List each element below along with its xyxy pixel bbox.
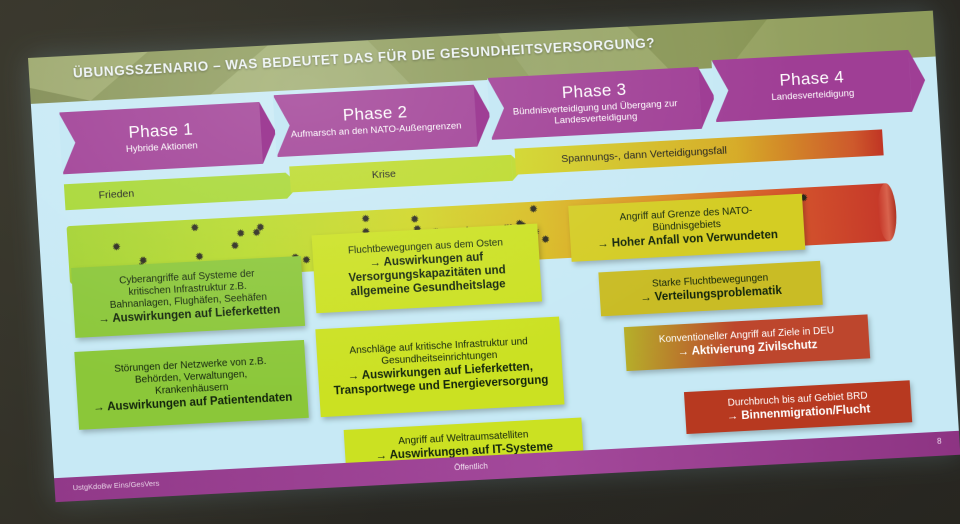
phase-title: Phase 4 [779,69,845,90]
virus-icon: ✹ [302,256,312,265]
chevron-notch-icon [711,59,730,122]
phase-subtitle: Hybride Aktionen [120,140,204,156]
phase-3[interactable]: Phase 3 Bündnisverteidigung und Übergang… [488,67,702,140]
phase-title: Phase 2 [342,104,408,125]
chevron-right-icon [908,49,927,112]
chevron-notch-icon [58,112,77,175]
virus-icon: ✹ [529,206,539,215]
callout-konventioneller-angriff[interactable]: Konventioneller Angriff auf Ziele in DEU… [624,314,870,371]
status-band-krise: Krise [289,155,512,193]
virus-icon: ✹ [541,236,551,245]
chevron-notch-icon [487,77,506,140]
footer-org-label: UstgKdoBw Eins/GesVers [72,479,159,493]
virus-icon: ✹ [361,216,371,225]
status-band-label: Frieden [64,188,134,204]
callout-angriff-nato-grenze[interactable]: Angriff auf Grenze des NATO- Bündnisgebi… [568,194,805,262]
chevron-notch-icon [273,94,292,157]
status-band-label: Krise [290,168,397,186]
virus-icon: ✹ [112,243,122,252]
phase-subtitle: Landesverteidigung [765,88,861,104]
projected-slide: ÜBUNGSSZENARIO – WAS BEDEUTET DAS FÜR DI… [28,11,960,503]
virus-icon: ✹ [252,229,262,238]
phase-title: Phase 3 [561,81,627,102]
phase-2[interactable]: Phase 2 Aufmarsch an den NATO-Außengrenz… [274,85,478,157]
callout-anschlaege-infrastruktur[interactable]: Anschläge auf kritische Infrastruktur un… [315,317,564,418]
callout-starke-fluchtbewegungen[interactable]: Starke Fluchtbewegungen → Verteilungspro… [598,261,822,317]
phase-1[interactable]: Phase 1 Hybride Aktionen [59,102,263,174]
classification-label: Öffentlich [454,461,488,472]
arrow-cap [876,183,898,242]
callout-stoerungen-netzwerke[interactable]: Störungen der Netzwerke von z.B. Behörde… [74,340,309,430]
callout-highlight: → Auswirkungen auf Lieferketten, Transpo… [326,359,555,399]
phase-subtitle: Aufmarsch an den NATO-Außengrenzen [285,120,468,141]
virus-icon: ✹ [190,225,200,234]
status-band-spannungsfall: Spannungs-, dann Verteidigungsfall [515,129,884,174]
status-band-label: Spannungs-, dann Verteidigungsfall [515,145,727,168]
phase-subtitle: Bündnisverteidigung und Übergang zur Lan… [490,97,701,130]
phase-title: Phase 1 [128,121,194,142]
virus-icon: ✹ [230,242,240,251]
virus-icon: ✹ [236,230,246,239]
callout-cyberangriffe[interactable]: Cyberangriffe auf Systeme der kritischen… [71,256,305,338]
phase-4[interactable]: Phase 4 Landesverteidigung [712,50,912,122]
status-band-frieden: Frieden [64,173,287,211]
slide-canvas: ÜBUNGSSZENARIO – WAS BEDEUTET DAS FÜR DI… [28,11,960,503]
virus-icon: ✹ [410,215,420,224]
slide-number: 8 [937,437,942,446]
callout-fluchtbewegungen-osten[interactable]: Fluchtbewegungen aus dem Osten → Auswirk… [312,224,543,314]
callout-durchbruch-brd[interactable]: Durchbruch bis auf Gebiet BRD → Binnenmi… [684,380,912,434]
